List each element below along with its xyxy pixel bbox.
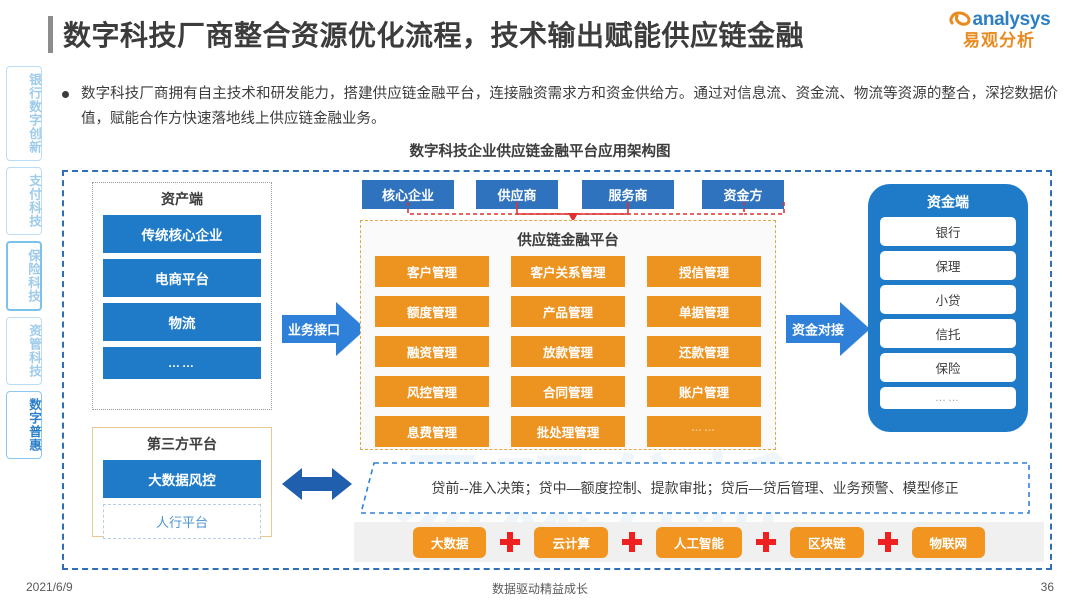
supply-chain-finance-platform: 供应链金融平台 客户管理 客户关系管理 授信管理 额度管理 产品管理 单据管理 … bbox=[360, 220, 776, 450]
asset-item-logistics[interactable]: 物流 bbox=[103, 303, 261, 341]
analysys-logo: analysys 易观分析 bbox=[940, 9, 1058, 49]
module-customer-management[interactable]: 客户管理 bbox=[375, 256, 489, 287]
platform-title: 供应链金融平台 bbox=[375, 229, 761, 250]
technology-stack-strip: 大数据 云计算 人工智能 区块链 物联网 bbox=[354, 522, 1044, 562]
analysys-swoosh-icon bbox=[948, 9, 972, 29]
funding-item-insurance[interactable]: 保险 bbox=[880, 353, 1016, 382]
funding-panel-title: 资金端 bbox=[880, 192, 1016, 212]
module-credit-granting[interactable]: 授信管理 bbox=[647, 256, 761, 287]
module-risk-control[interactable]: 风控管理 bbox=[375, 376, 489, 407]
module-fee-management[interactable]: 息费管理 bbox=[375, 416, 489, 447]
footer-slogan: 数据驱动精益成长 bbox=[0, 580, 1080, 597]
sidebar-item-payment-tech[interactable]: 支付科技 bbox=[6, 167, 42, 235]
plus-icon bbox=[622, 532, 642, 552]
bidirectional-arrow-icon bbox=[282, 462, 352, 506]
sidebar-item-insurance-tech[interactable]: 保险科技 bbox=[6, 241, 42, 311]
funding-item-more[interactable]: …… bbox=[880, 387, 1016, 409]
summary-bullet: 数字科技厂商拥有自主技术和研发能力，搭建供应链金融平台，连接融资需求方和资金供给… bbox=[62, 82, 1058, 132]
funding-item-factoring[interactable]: 保理 bbox=[880, 251, 1016, 280]
business-interface-arrow-label: 业务接口 bbox=[288, 320, 340, 339]
funding-item-microloan[interactable]: 小贷 bbox=[880, 285, 1016, 314]
sidebar[interactable]: 银行数字创新 支付科技 保险科技 资管科技 数字普惠 bbox=[6, 66, 42, 459]
title-accent-rule bbox=[48, 16, 53, 53]
asset-side-panel: 资产端 传统核心企业 电商平台 物流 …… bbox=[92, 182, 272, 410]
third-party-panel-title: 第三方平台 bbox=[103, 434, 261, 454]
module-repayment-management[interactable]: 还款管理 bbox=[647, 336, 761, 367]
funding-connection-arrow-label: 资金对接 bbox=[792, 320, 844, 339]
module-financing-management[interactable]: 融资管理 bbox=[375, 336, 489, 367]
module-crm[interactable]: 客户关系管理 bbox=[511, 256, 625, 287]
bullet-dot-icon bbox=[62, 91, 69, 98]
platform-module-grid: 客户管理 客户关系管理 授信管理 额度管理 产品管理 单据管理 融资管理 放款管… bbox=[375, 256, 761, 447]
logo-wordmark: analysys bbox=[973, 10, 1051, 29]
asset-item-more[interactable]: …… bbox=[103, 347, 261, 379]
plus-icon bbox=[878, 532, 898, 552]
tech-tag-big-data[interactable]: 大数据 bbox=[413, 527, 487, 558]
asset-item-traditional-core-enterprise[interactable]: 传统核心企业 bbox=[103, 215, 261, 253]
funding-side-panel: 资金端 银行 保理 小贷 信托 保险 …… bbox=[868, 184, 1028, 432]
business-interface-arrow: 业务接口 bbox=[282, 300, 366, 358]
plus-icon bbox=[756, 532, 776, 552]
third-party-platform-panel: 第三方平台 大数据风控 人行平台 bbox=[92, 427, 272, 537]
module-contract-management[interactable]: 合同管理 bbox=[511, 376, 625, 407]
architecture-diagram: 易观分析 核心企业 供应商 服务商 资金方 资产端 传统核心企业 电商平台 物流… bbox=[62, 170, 1052, 570]
funding-item-bank[interactable]: 银行 bbox=[880, 217, 1016, 246]
tech-tag-cloud-computing[interactable]: 云计算 bbox=[534, 527, 608, 558]
module-loan-disbursement[interactable]: 放款管理 bbox=[511, 336, 625, 367]
module-more[interactable]: …… bbox=[647, 416, 761, 447]
slide-page: 数字科技厂商整合资源优化流程，技术输出赋能供应链金融 analysys 易观分析… bbox=[0, 0, 1080, 608]
tech-tag-artificial-intelligence[interactable]: 人工智能 bbox=[656, 527, 742, 558]
tech-tag-iot[interactable]: 物联网 bbox=[912, 527, 986, 558]
footer: 2021/6/9 数据驱动精益成长 36 bbox=[0, 580, 1080, 596]
module-batch-processing[interactable]: 批处理管理 bbox=[511, 416, 625, 447]
plus-icon bbox=[500, 532, 520, 552]
third-party-item-pboc-platform[interactable]: 人行平台 bbox=[103, 504, 261, 539]
sidebar-item-digital-inclusive-finance[interactable]: 数字普惠 bbox=[6, 391, 42, 459]
sidebar-item-asset-management-tech[interactable]: 资管科技 bbox=[6, 317, 42, 385]
third-party-item-big-data-risk-control[interactable]: 大数据风控 bbox=[103, 460, 261, 498]
funding-connection-arrow: 资金对接 bbox=[786, 300, 870, 358]
funding-item-trust[interactable]: 信托 bbox=[880, 319, 1016, 348]
bullet-text: 数字科技厂商拥有自主技术和研发能力，搭建供应链金融平台，连接融资需求方和资金供给… bbox=[81, 82, 1058, 132]
title-text: 数字科技厂商整合资源优化流程，技术输出赋能供应链金融 bbox=[63, 14, 804, 54]
loan-lifecycle-text: 贷前--准入决策；贷中—额度控制、提款审批；贷后—贷后管理、业务预警、模型修正 bbox=[360, 462, 1030, 514]
chart-caption: 数字科技企业供应链金融平台应用架构图 bbox=[0, 140, 1080, 161]
tech-tag-blockchain[interactable]: 区块链 bbox=[790, 527, 864, 558]
asset-panel-title: 资产端 bbox=[103, 189, 261, 209]
loan-lifecycle-callout: 贷前--准入决策；贷中—额度控制、提款审批；贷后—贷后管理、业务预警、模型修正 bbox=[360, 462, 1030, 514]
logo-chinese-name: 易观分析 bbox=[940, 32, 1058, 49]
footer-page-number: 36 bbox=[1041, 580, 1054, 594]
module-account-management[interactable]: 账户管理 bbox=[647, 376, 761, 407]
page-title: 数字科技厂商整合资源优化流程，技术输出赋能供应链金融 bbox=[48, 14, 804, 54]
module-limit-management[interactable]: 额度管理 bbox=[375, 296, 489, 327]
module-product-management[interactable]: 产品管理 bbox=[511, 296, 625, 327]
asset-item-ecommerce-platform[interactable]: 电商平台 bbox=[103, 259, 261, 297]
module-document-management[interactable]: 单据管理 bbox=[647, 296, 761, 327]
